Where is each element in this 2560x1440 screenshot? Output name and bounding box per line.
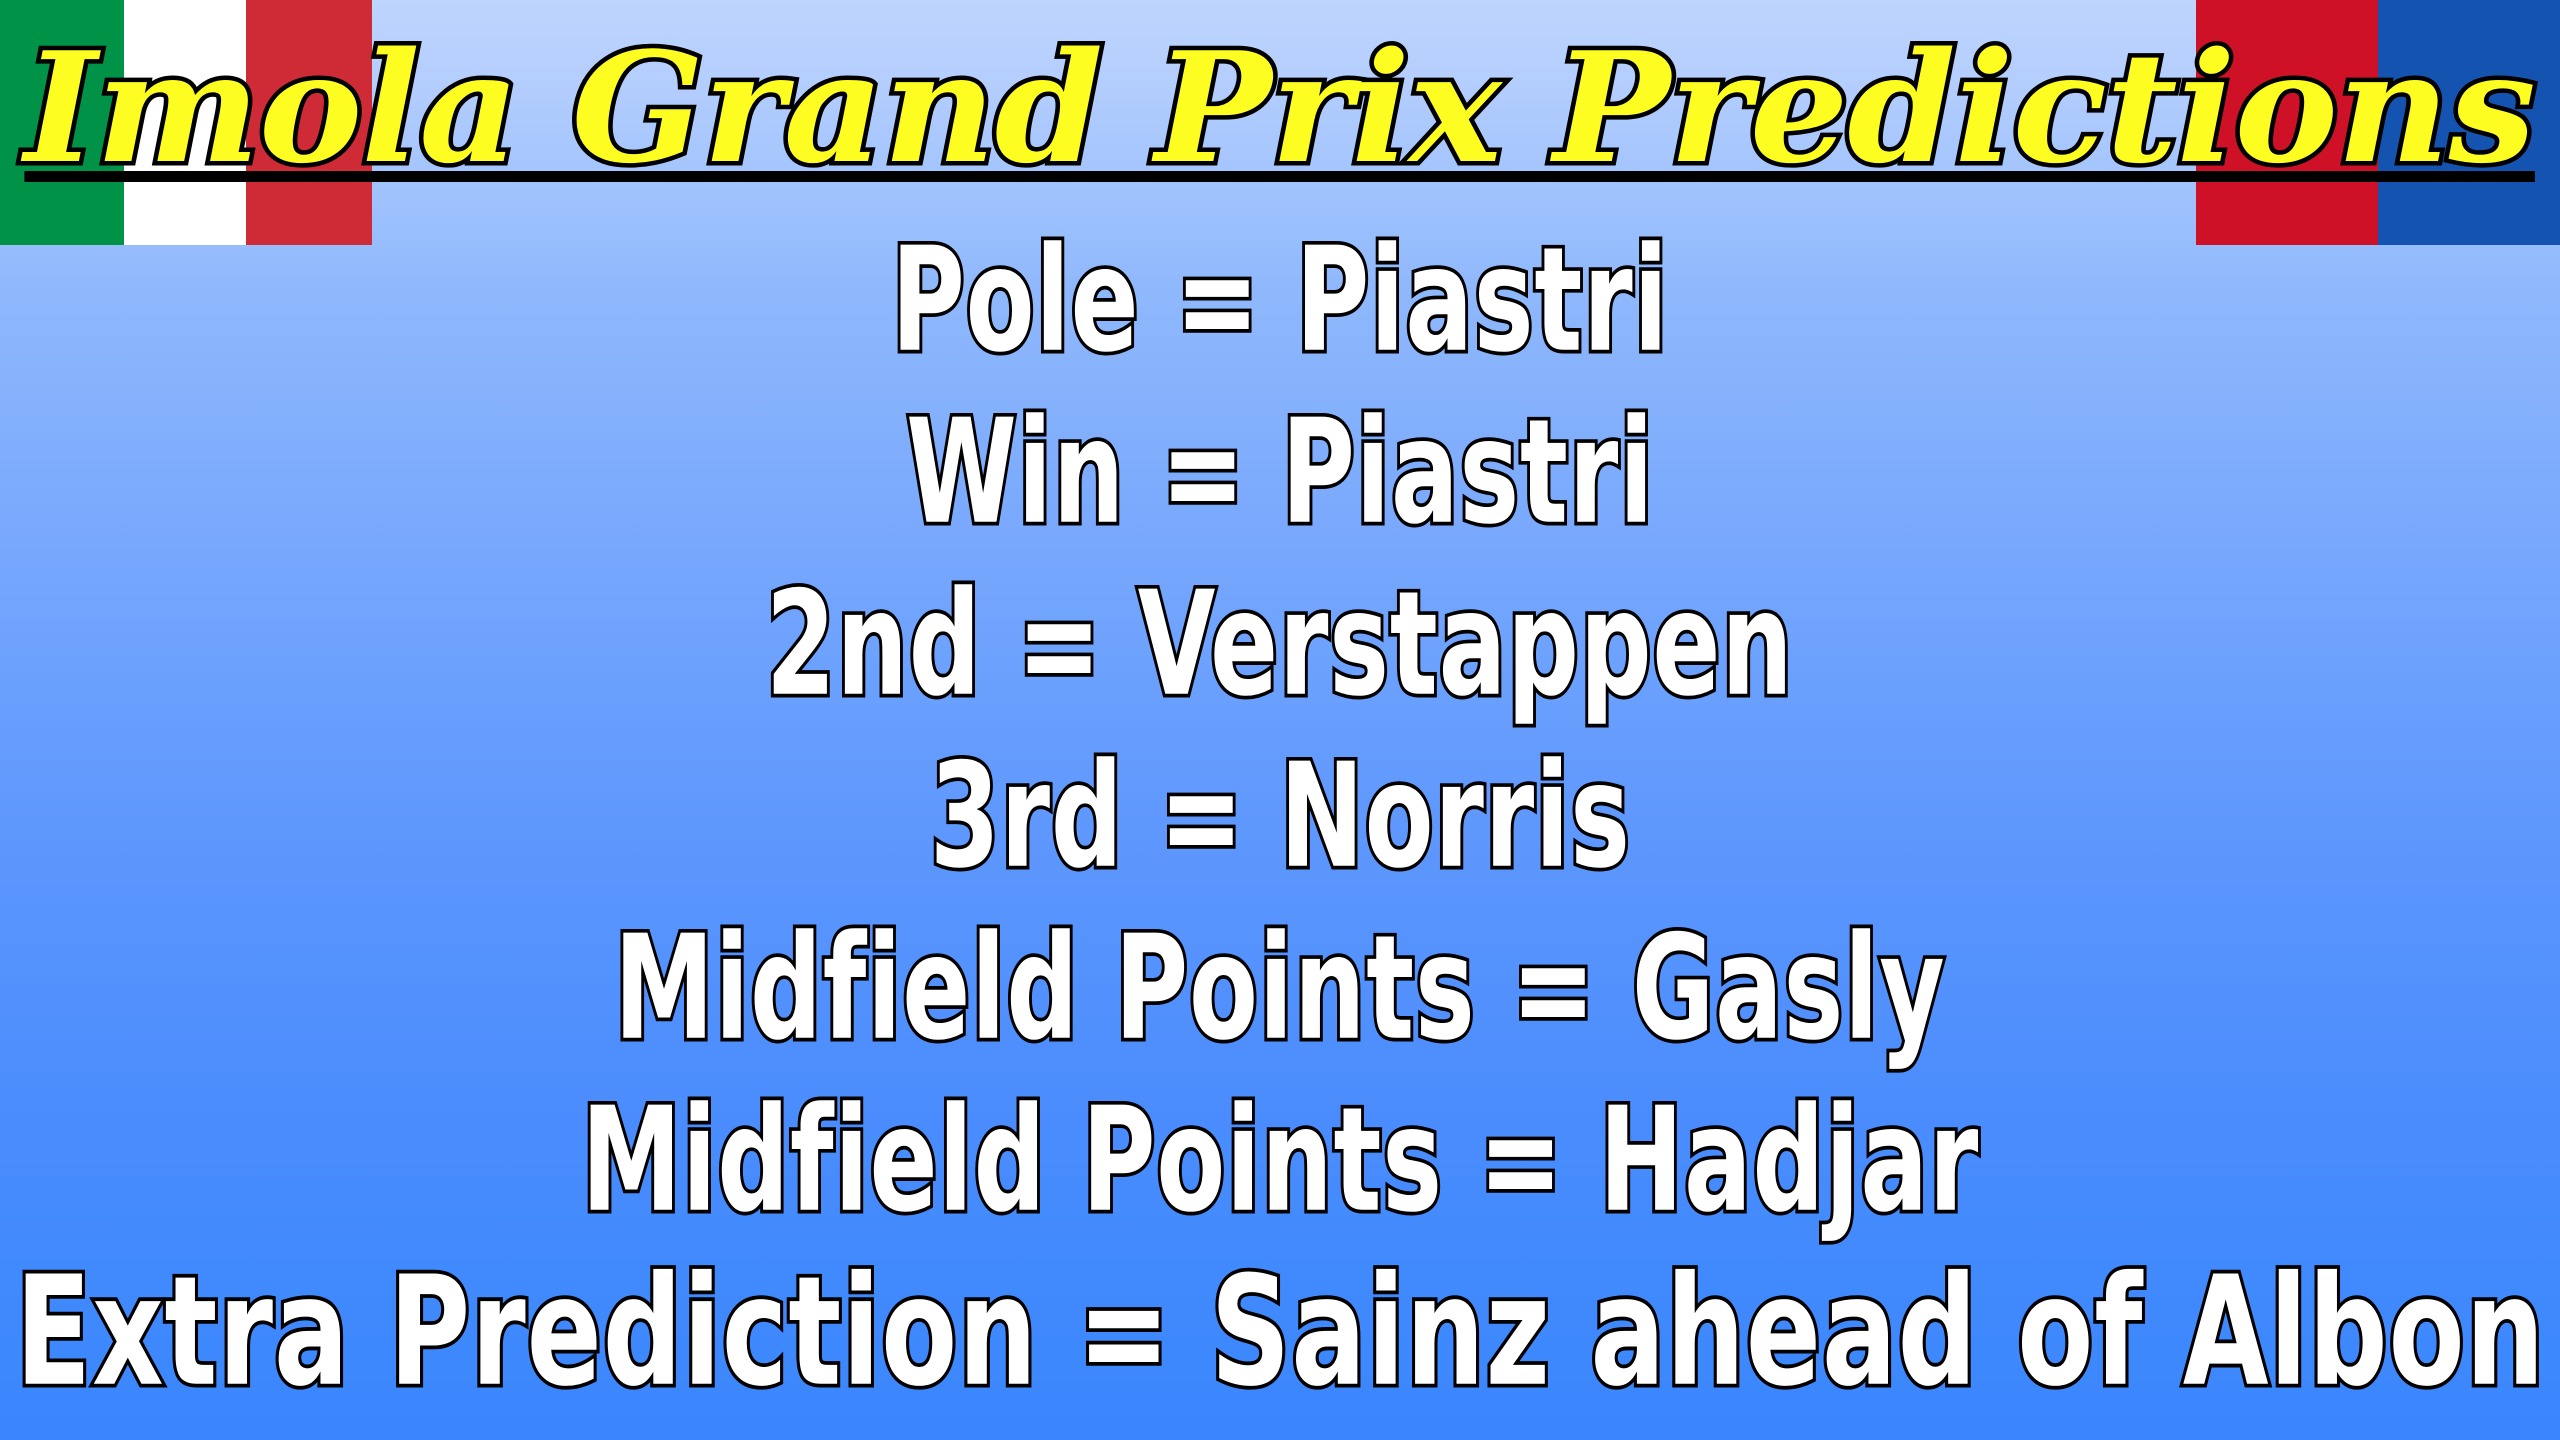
prediction-line-third: 3rd = Norris	[930, 726, 1631, 908]
prediction-line-win: Win = Piastri	[906, 382, 1654, 564]
title-container: Imola Grand Prix Predictions	[0, 0, 2560, 215]
italy-flag-band-green	[0, 0, 124, 245]
france-flag-band-blue	[2378, 0, 2560, 245]
italy-flag	[0, 0, 372, 245]
page-title: Imola Grand Prix Predictions	[25, 32, 2536, 184]
prediction-line-midfield-gasly: Midfield Points = Gasly	[614, 898, 1945, 1080]
prediction-line-second: 2nd = Verstappen	[766, 554, 1794, 736]
prediction-line-pole: Pole = Piastri	[891, 210, 1668, 392]
italy-flag-band-white	[124, 0, 246, 245]
predictions-list: Pole = Piastri Win = Piastri 2nd = Verst…	[0, 215, 2560, 1440]
italy-flag-band-red	[246, 0, 372, 245]
prediction-line-extra: Extra Prediction = Sainz ahead of Albon	[15, 1240, 2545, 1426]
france-flag-cropped	[2196, 0, 2560, 245]
france-flag-band-red	[2196, 0, 2378, 245]
prediction-graphic: Imola Grand Prix Predictions Pole = Pias…	[0, 0, 2560, 1440]
prediction-line-midfield-hadjar: Midfield Points = Hadjar	[581, 1070, 1979, 1252]
